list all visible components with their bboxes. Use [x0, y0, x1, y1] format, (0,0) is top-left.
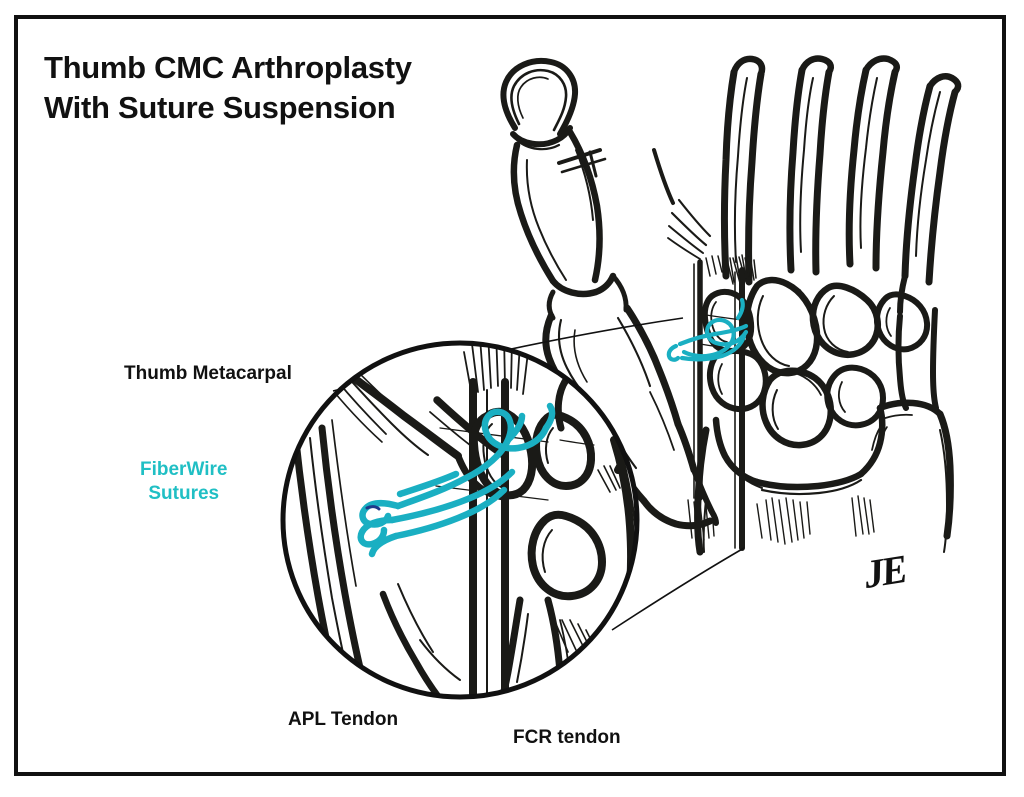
artist-signature: JE	[861, 545, 909, 598]
label-thumb-metacarpal: Thumb Metacarpal	[124, 362, 292, 386]
figure-title: Thumb CMC Arthroplasty With Suture Suspe…	[44, 48, 514, 127]
label-fiberwire-sutures: FiberWire Sutures	[140, 458, 227, 506]
figure-border	[14, 15, 1006, 776]
label-apl-tendon: APL Tendon	[288, 708, 398, 732]
illustration-root: Thumb CMC Arthroplasty With Suture Suspe…	[0, 0, 1024, 797]
label-fcr-tendon: FCR tendon	[513, 726, 621, 750]
